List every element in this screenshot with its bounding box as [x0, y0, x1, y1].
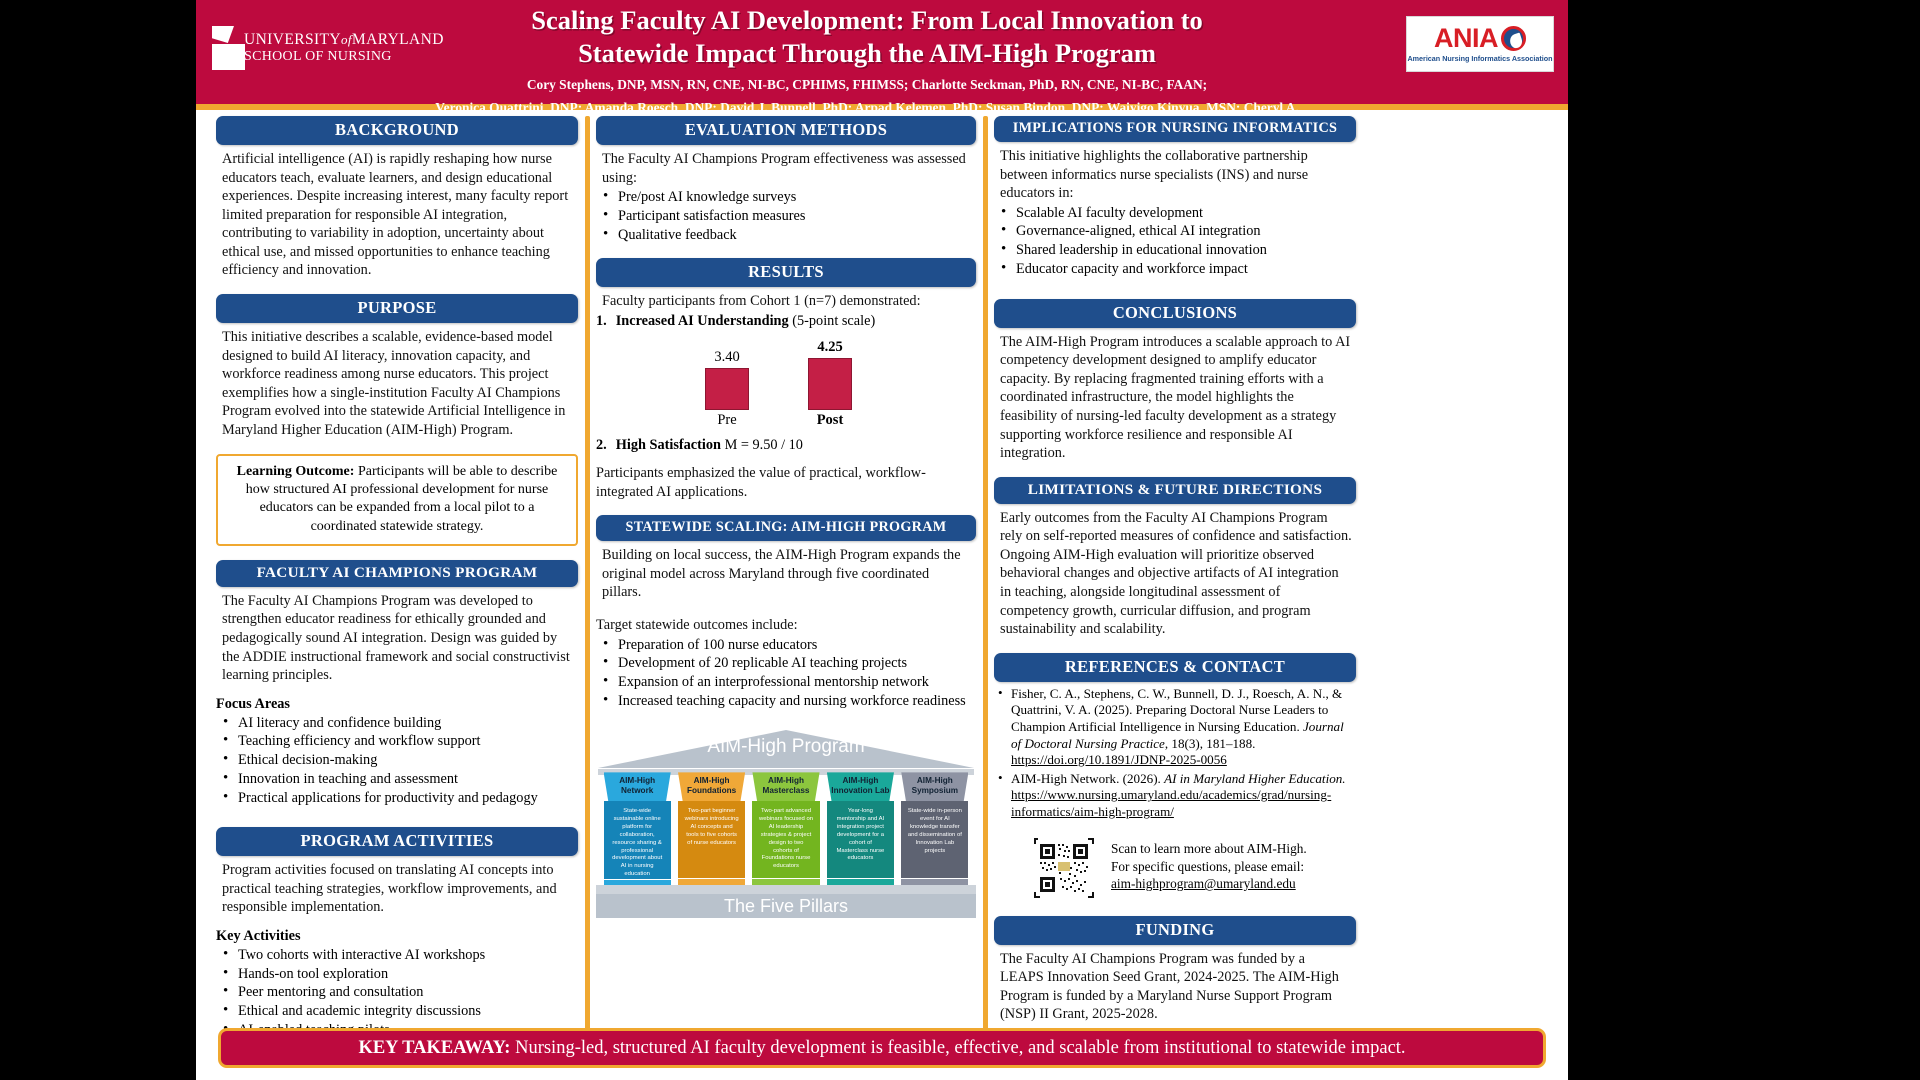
qr-code-icon[interactable] [1030, 834, 1098, 902]
bar-value-label-pre: 3.40 [705, 349, 749, 366]
reference-item-1: Fisher, C. A., Stephens, C. W., Bunnell,… [994, 686, 1356, 769]
list-item: Shared leadership in educational innovat… [994, 241, 1356, 260]
pillar-foundations: AIM-High Foundations Two-part beginner w… [678, 772, 745, 886]
section-header-program-activities: PROGRAM ACTIVITIES [216, 827, 578, 856]
reference-item-2: AIM-High Network. (2026). AI in Maryland… [994, 771, 1356, 821]
section-header-implications: IMPLICATIONS FOR NURSING INFORMATICS [994, 116, 1356, 142]
learning-outcome-label: Learning Outcome: [237, 464, 355, 479]
umson-mark-icon [210, 26, 236, 70]
qr-code-svg [1030, 834, 1098, 902]
ai-understanding-bar-chart: 3.40 Pre 4.25 Post [671, 338, 901, 430]
ania-subtitle: American Nursing Informatics Association [1407, 54, 1552, 63]
list-item: Ethical and academic integrity discussio… [216, 1002, 578, 1021]
list-item: Qualitative feedback [596, 226, 976, 245]
list-item: Scalable AI faculty development [994, 204, 1356, 223]
pillar-body: Two-part beginner webinars introducing A… [678, 801, 745, 878]
pillar-title: AIM-High Innovation Lab [827, 772, 894, 801]
methods-text: The Faculty AI Champions Program effecti… [596, 145, 976, 187]
column-divider-left [585, 116, 590, 1040]
school-name: SCHOOL OF NURSING [244, 49, 444, 65]
funding-text: The Faculty AI Champions Program was fun… [994, 945, 1356, 1024]
pillar-row: AIM-High Network State-wide sustainable … [604, 772, 969, 886]
list-item: AI literacy and confidence building [216, 714, 578, 733]
results-item-2: 2. High Satisfaction M = 9.50 / 10 [596, 436, 976, 455]
column-right: IMPLICATIONS FOR NURSING INFORMATICS Thi… [988, 116, 1362, 1040]
authors-line-1: Cory Stephens, DNP, MSN, RN, CNE, NI-BC,… [426, 76, 1308, 94]
results-item-2-detail: M = 9.50 / 10 [721, 437, 803, 453]
pillar-base-slab: The Five Pillars [596, 894, 976, 918]
bar-pre [705, 368, 749, 410]
list-item: Expansion of an interprofessional mentor… [596, 673, 976, 692]
results-item-1-number: 1. [596, 312, 607, 331]
limitations-text: Early outcomes from the Faculty AI Champ… [994, 504, 1356, 639]
list-item: Preparation of 100 nurse educators [596, 636, 976, 655]
university-of-maryland-logo: UNIVERSITYofMARYLAND SCHOOL OF NURSING [210, 26, 444, 70]
base-label: The Five Pillars [724, 896, 848, 917]
list-item: Ethical decision-making [216, 751, 578, 770]
implications-text: This initiative highlights the collabora… [994, 142, 1356, 203]
conclusions-text: The AIM-High Program introduces a scalab… [994, 328, 1356, 463]
list-item: Peer mentoring and consultation [216, 983, 578, 1002]
contact-text-block: Scan to learn more about AIM-High. For s… [1111, 834, 1307, 893]
results-item-2-label: High Satisfaction [616, 437, 721, 453]
results-item-1: 1. Increased AI Understanding (5-point s… [596, 312, 976, 331]
column-middle: EVALUATION METHODS The Faculty AI Champi… [590, 116, 982, 1040]
target-outcomes-label: Target statewide outcomes include: [596, 616, 976, 635]
list-item: Pre/post AI knowledge surveys [596, 188, 976, 207]
list-item: Educator capacity and workforce impact [994, 260, 1356, 279]
contact-email-link[interactable]: aim-highprogram@umaryland.edu [1111, 875, 1307, 893]
results-item-1-detail: (5-point scale) [789, 313, 876, 329]
pillar-body: Two-part advanced webinars focused on AI… [752, 801, 819, 878]
list-item: Hands-on tool exploration [216, 965, 578, 984]
implications-list: Scalable AI faculty development Governan… [994, 204, 1356, 279]
list-item: Governance-aligned, ethical AI integrati… [994, 222, 1356, 241]
key-takeaway-label: KEY TAKEAWAY: [358, 1038, 510, 1058]
poster-canvas: UNIVERSITYofMARYLAND SCHOOL OF NURSING S… [196, 0, 1568, 1080]
ania-logo: ANIA American Nursing Informatics Associ… [1406, 16, 1554, 72]
section-header-references: REFERENCES & CONTACT [994, 653, 1356, 682]
pediment-label: AIM-High Program [596, 736, 976, 758]
results-closing-text: Participants emphasized the value of pra… [596, 464, 976, 501]
results-item-2-number: 2. [596, 436, 607, 455]
section-header-evaluation-methods: EVALUATION METHODS [596, 116, 976, 145]
ania-wordmark: ANIA [1434, 25, 1498, 52]
pillar-title: AIM-High Symposium [901, 772, 968, 801]
scaling-text: Building on local success, the AIM-High … [596, 541, 976, 602]
university-name: UNIVERSITYofMARYLAND [244, 31, 444, 49]
champions-text: The Faculty AI Champions Program was dev… [216, 587, 578, 685]
focus-areas-label: Focus Areas [216, 696, 578, 713]
reference-1-doi-link[interactable]: https://doi.org/10.1891/JDNP-2025-0056 [1011, 752, 1227, 767]
reference-2-url-link[interactable]: https://www.nursing.umaryland.edu/academ… [1011, 787, 1331, 819]
target-outcomes-list: Preparation of 100 nurse educators Devel… [596, 636, 976, 711]
column-divider-right [983, 116, 988, 1040]
purpose-text: This initiative describes a scalable, ev… [216, 323, 578, 439]
learning-outcome-box: Learning Outcome: Participants will be a… [216, 454, 578, 546]
pillar-network: AIM-High Network State-wide sustainable … [604, 772, 671, 886]
poster-columns: BACKGROUND Artificial intelligence (AI) … [196, 116, 1568, 1016]
pillar-innovation-lab: AIM-High Innovation Lab Year-long mentor… [827, 772, 894, 886]
pillar-body: Year-long mentorship and AI integration … [827, 801, 894, 878]
section-header-limitations: LIMITATIONS & FUTURE DIRECTIONS [994, 477, 1356, 504]
pillar-title: AIM-High Foundations [678, 772, 745, 801]
section-header-funding: FUNDING [994, 916, 1356, 945]
section-header-results: RESULTS [596, 258, 976, 287]
list-item: Two cohorts with interactive AI workshop… [216, 946, 578, 965]
column-left: BACKGROUND Artificial intelligence (AI) … [210, 116, 584, 1040]
poster-title-line-1: Scaling Faculty AI Development: From Loc… [426, 4, 1308, 37]
pillar-body: State-wide sustainable online platform f… [604, 801, 671, 879]
list-item: Practical applications for productivity … [216, 789, 578, 808]
key-takeaway-text: Nursing-led, structured AI faculty devel… [510, 1038, 1405, 1058]
references-list: Fisher, C. A., Stephens, C. W., Bunnell,… [994, 686, 1356, 821]
poster-header: UNIVERSITYofMARYLAND SCHOOL OF NURSING S… [196, 0, 1568, 110]
results-lead: Faculty participants from Cohort 1 (n=7)… [596, 287, 976, 311]
list-item: Increased teaching capacity and nursing … [596, 692, 976, 711]
qr-contact-row: Scan to learn more about AIM-High. For s… [994, 834, 1356, 902]
background-text: Artificial intelligence (AI) is rapidly … [216, 145, 578, 280]
qr-instruction-line-1: Scan to learn more about AIM-High. [1111, 840, 1307, 858]
bar-value-label-post: 4.25 [808, 339, 852, 356]
pillar-base-bar [596, 885, 976, 894]
bar-group-post: 4.25 Post [808, 358, 852, 410]
section-header-faculty-ai-champions-program: FACULTY AI CHAMPIONS PROGRAM [216, 560, 578, 587]
pillar-body: State-wide in-person event for AI knowle… [901, 801, 968, 878]
bar-category-label-pre: Pre [697, 412, 757, 429]
key-takeaway-banner: KEY TAKEAWAY: Nursing-led, structured AI… [218, 1028, 1546, 1068]
pillar-title: AIM-High Masterclass [752, 772, 819, 801]
key-activities-list: Two cohorts with interactive AI workshop… [216, 946, 578, 1040]
pillar-masterclass: AIM-High Masterclass Two-part advanced w… [752, 772, 819, 886]
list-item: Development of 20 replicable AI teaching… [596, 654, 976, 673]
methods-list: Pre/post AI knowledge surveys Participan… [596, 188, 976, 244]
bar-group-pre: 3.40 Pre [705, 368, 749, 410]
pillar-symposium: AIM-High Symposium State-wide in-person … [901, 772, 968, 886]
list-item: Innovation in teaching and assessment [216, 770, 578, 789]
bar-post [808, 358, 852, 410]
results-item-1-label: Increased AI Understanding [616, 313, 789, 329]
focus-areas-list: AI literacy and confidence building Teac… [216, 714, 578, 808]
list-item: Teaching efficiency and workflow support [216, 732, 578, 751]
poster-title-line-2: Statewide Impact Through the AIM-High Pr… [426, 37, 1308, 70]
section-header-purpose: PURPOSE [216, 294, 578, 323]
list-item: Participant satisfaction measures [596, 207, 976, 226]
qr-instruction-line-2: For specific questions, please email: [1111, 858, 1307, 876]
bar-category-label-post: Post [800, 412, 860, 429]
key-activities-label: Key Activities [216, 928, 578, 945]
activities-text: Program activities focused on translatin… [216, 856, 578, 917]
pillar-title: AIM-High Network [604, 772, 671, 801]
ania-globe-icon [1501, 26, 1526, 51]
section-header-statewide-scaling: STATEWIDE SCALING: AIM-HIGH PROGRAM [596, 515, 976, 541]
section-header-background: BACKGROUND [216, 116, 578, 145]
section-header-conclusions: CONCLUSIONS [994, 299, 1356, 328]
aim-high-five-pillars-graphic: AIM-High Program AIM-High Network State-… [596, 728, 976, 918]
